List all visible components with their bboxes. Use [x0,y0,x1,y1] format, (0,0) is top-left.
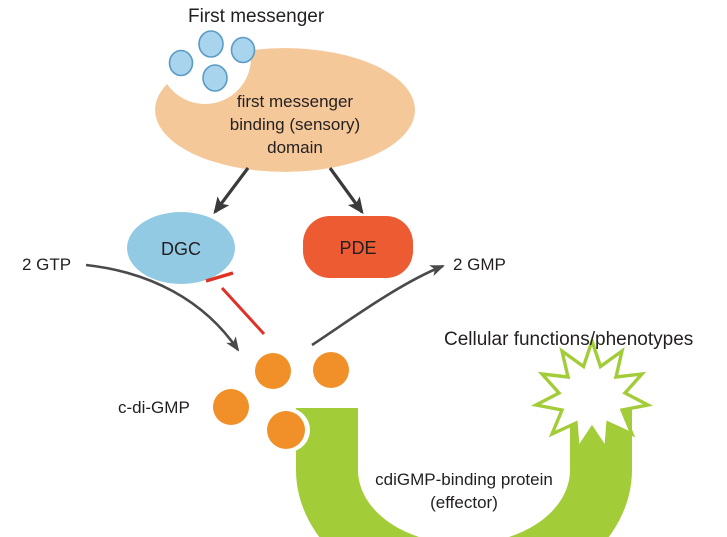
cellular-functions-label: Cellular functions/phenotypes [444,329,693,350]
diagram-canvas: First messenger first messenger binding … [0,0,727,537]
cdigmp-circle [213,389,249,425]
first-messenger-circle [199,31,223,57]
pde-label: PDE [339,238,376,258]
arrow-sensory-to-pde [330,168,362,212]
sensory-domain-label-line1: first messenger [237,92,354,111]
cdigmp-circle-bound [267,411,305,449]
effector-label-line2: (effector) [430,493,498,512]
first-messenger-label: First messenger [188,6,325,27]
inhibition-line [222,288,264,334]
first-messenger-circle [203,65,227,91]
gmp-label: 2 GMP [453,255,506,274]
cdigmp-circle [255,353,291,389]
sensory-domain-label-line3: domain [267,138,323,157]
dgc-label: DGC [161,239,201,259]
arrow-sensory-to-dgc [215,168,248,212]
gtp-label: 2 GTP [22,255,71,274]
sensory-domain-label-line2: binding (sensory) [230,115,360,134]
signaling-diagram: First messenger first messenger binding … [0,0,727,537]
first-messenger-circle [232,38,255,63]
cdigmp-label: c-di-GMP [118,398,190,417]
cdigmp-circle [313,352,349,388]
first-messenger-circle [170,51,193,76]
effector-label-line1: cdiGMP-binding protein [375,470,553,489]
inhibition-edge-cdigmp-dgc [206,273,264,334]
